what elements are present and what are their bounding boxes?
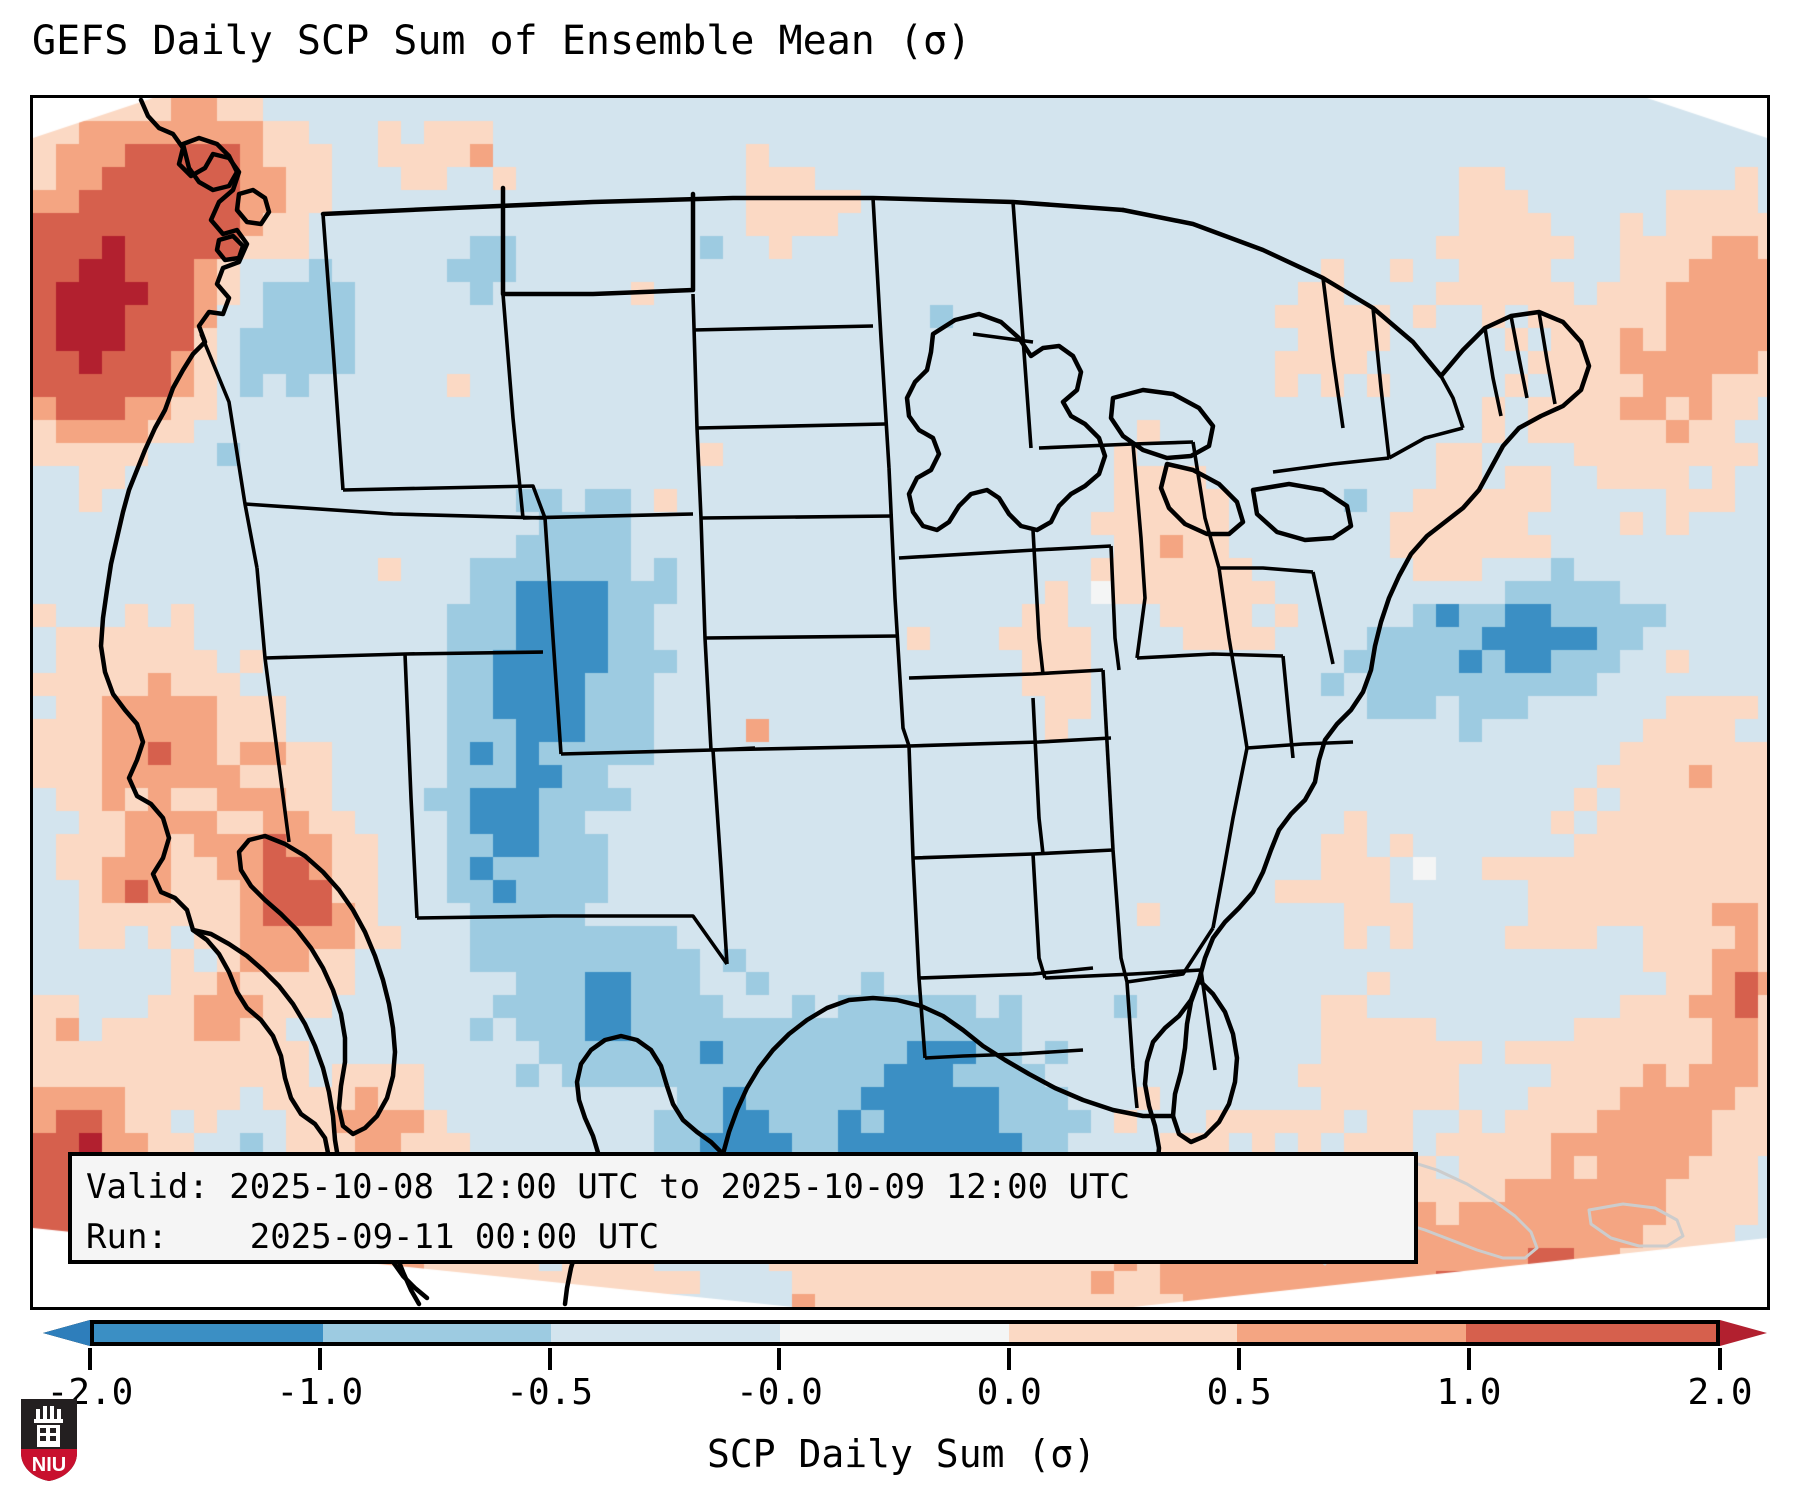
colorbar-tick-label-3: -0.0	[736, 1372, 823, 1413]
valid-line: Valid: 2025-10-08 12:00 UTC to 2025-10-0…	[86, 1162, 1400, 1212]
colorbar-segment-1	[323, 1324, 552, 1342]
colorbar-tick-5	[1237, 1348, 1241, 1370]
colorbar-tick-label-1: -1.0	[276, 1372, 363, 1413]
colorbar-segment-4	[1009, 1324, 1238, 1342]
colorbar-segment-2	[551, 1324, 780, 1342]
colorbar-label: SCP Daily Sum (σ)	[0, 1432, 1803, 1476]
colorbar[interactable]: -2.0-1.0-0.5-0.00.00.51.02.0	[0, 1308, 1803, 1368]
map-plot-area	[30, 95, 1770, 1310]
colorbar-tick-4	[1007, 1348, 1011, 1370]
colorbar-tick-1	[318, 1348, 322, 1370]
colorbar-over-arrow	[1720, 1320, 1767, 1346]
niu-logo: NIU	[18, 1395, 80, 1483]
niu-logo-text: NIU	[32, 1454, 66, 1476]
colorbar-tick-6	[1467, 1348, 1471, 1370]
page-title: GEFS Daily SCP Sum of Ensemble Mean (σ)	[32, 18, 971, 64]
colorbar-tick-7	[1718, 1348, 1722, 1370]
colorbar-segment-5	[1237, 1324, 1466, 1342]
scp-anomaly-heatmap	[33, 98, 1767, 1307]
colorbar-under-arrow	[43, 1320, 90, 1346]
valid-run-infobox: Valid: 2025-10-08 12:00 UTC to 2025-10-0…	[68, 1152, 1418, 1264]
run-line: Run: 2025-09-11 00:00 UTC	[86, 1212, 1400, 1262]
colorbar-tick-label-2: -0.5	[506, 1372, 593, 1413]
colorbar-segment-6	[1466, 1324, 1716, 1342]
colorbar-tick-label-7: 2.0	[1687, 1372, 1752, 1413]
colorbar-gradient[interactable]	[90, 1320, 1720, 1346]
colorbar-tick-0	[88, 1348, 92, 1370]
colorbar-tick-label-4: 0.0	[977, 1372, 1042, 1413]
colorbar-segment-0	[94, 1324, 323, 1342]
colorbar-tick-label-5: 0.5	[1207, 1372, 1272, 1413]
colorbar-tick-3	[777, 1348, 781, 1370]
colorbar-tick-2	[548, 1348, 552, 1370]
colorbar-segment-3	[780, 1324, 1009, 1342]
colorbar-tick-label-6: 1.0	[1436, 1372, 1501, 1413]
